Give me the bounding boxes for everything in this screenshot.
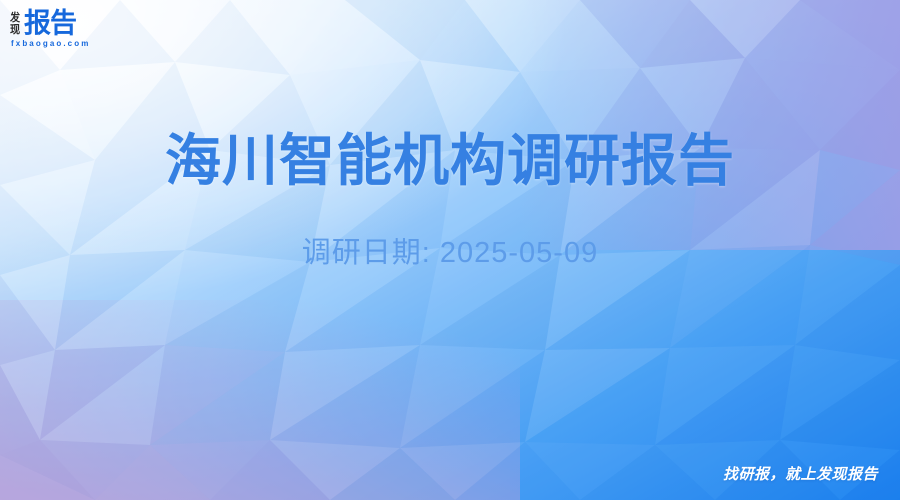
cover-title-container: 海川智能机构调研报告 — [0, 88, 900, 233]
footer-tagline: 找研报，就上发现报告 — [723, 463, 878, 484]
brand-logo-wordmark: 报告 — [24, 9, 76, 38]
brand-logo-row: 发 现 报告 — [10, 7, 100, 37]
survey-date-label: 调研日期: 2025-05-09 — [302, 233, 598, 273]
cover-subtitle-container: 调研日期: 2025-05-09 — [0, 233, 900, 273]
brand-logo-mark: 发 现 — [10, 12, 21, 37]
brand-logo-mark-top: 发 — [10, 12, 20, 24]
brand-logo-url: fxbaogao.com — [10, 39, 100, 48]
report-cover-slide: 发 现 报告 fxbaogao.com 海川智能机构调研报告 调研日期: 202… — [0, 0, 900, 500]
page-title: 海川智能机构调研报告 — [165, 126, 735, 196]
brand-logo[interactable]: 发 现 报告 fxbaogao.com — [10, 7, 100, 51]
brand-logo-mark-bottom: 现 — [10, 24, 20, 36]
